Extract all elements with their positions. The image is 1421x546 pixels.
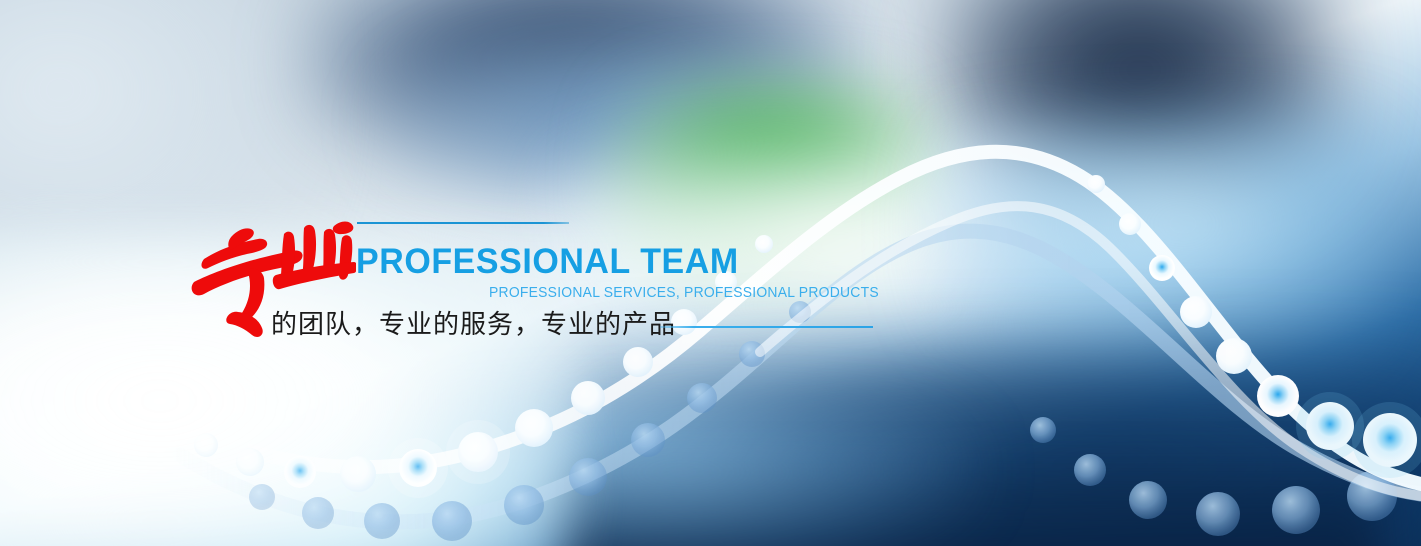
headline-english-subtitle: PROFESSIONAL SERVICES, PROFESSIONAL PROD…: [489, 285, 873, 301]
rule-bottom: [660, 326, 873, 328]
professional-team-banner: PROFESSIONAL TEAM PROFESSIONAL SERVICES,…: [0, 0, 1421, 546]
rule-top: [357, 222, 569, 224]
headline-chinese-tagline: 的团队，专业的服务，专业的产品: [271, 304, 676, 341]
banner-text-block: PROFESSIONAL TEAM PROFESSIONAL SERVICES,…: [0, 0, 1421, 546]
headline-english-title: PROFESSIONAL TEAM: [356, 242, 739, 282]
